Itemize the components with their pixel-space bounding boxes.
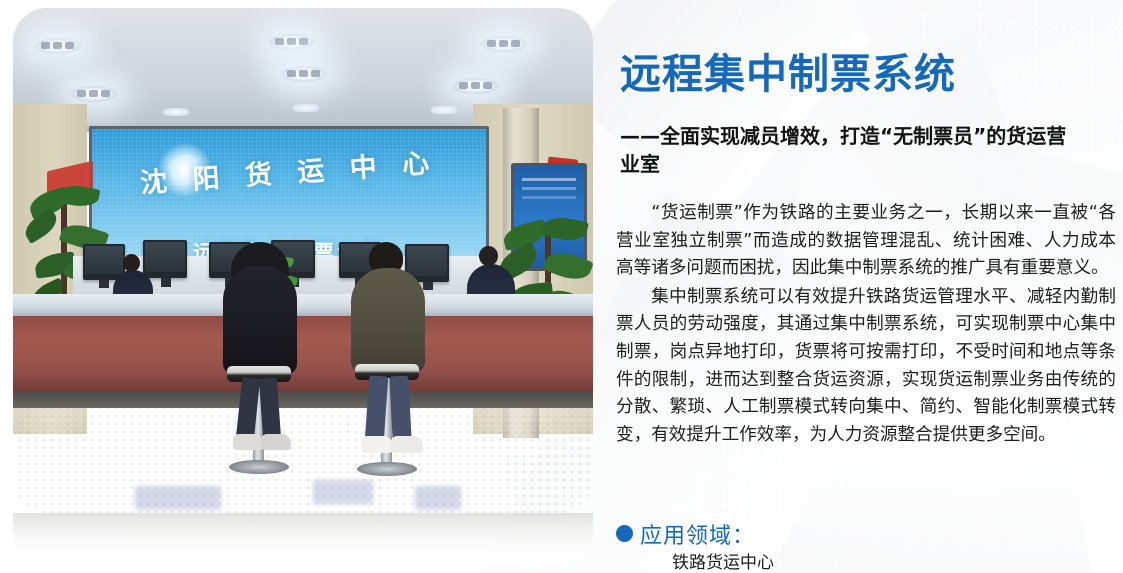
hall-photo: 沈 阳 货 运 中 心 远程集中制票大厅 bbox=[13, 8, 593, 513]
ceiling-light-small-icon bbox=[431, 106, 457, 114]
paragraph-2: 集中制票系统可以有效提升铁路货运管理水平、减轻内勤制票人员的劳动强度，其通过集中… bbox=[616, 284, 1116, 450]
customer-seated-left bbox=[209, 244, 319, 474]
application-area-label: 应用领域： bbox=[640, 518, 755, 550]
ceiling-light-icon bbox=[269, 34, 315, 50]
ceiling-light-small-icon bbox=[293, 104, 319, 112]
ceiling-light-small-icon bbox=[163, 108, 189, 116]
ceiling-light-icon bbox=[281, 66, 327, 82]
photo-reflection bbox=[13, 513, 593, 565]
text-content: 远程集中制票系统 ——全面实现减员增效，打造“无制票员”的货运营业室 “货运制票… bbox=[612, 0, 1112, 573]
application-area-value: 铁路货运中心 bbox=[672, 548, 774, 573]
bullet-dot-icon bbox=[616, 525, 633, 542]
slide-root: 沈 阳 货 运 中 心 远程集中制票大厅 bbox=[0, 0, 1123, 573]
floor-light-reflection bbox=[313, 480, 373, 504]
application-area: 应用领域： bbox=[616, 518, 755, 550]
ceiling-light-icon bbox=[71, 86, 117, 102]
hall-photo-image: 沈 阳 货 运 中 心 远程集中制票大厅 bbox=[13, 8, 593, 513]
staff-monitor bbox=[143, 240, 187, 278]
led-title-text: 沈 阳 货 运 中 心 bbox=[91, 137, 487, 203]
ceiling-light-icon bbox=[481, 36, 527, 52]
ceiling-light-icon bbox=[453, 78, 499, 94]
ceiling-light-icon bbox=[35, 38, 81, 54]
floor-light-reflection bbox=[135, 486, 221, 510]
floor-light-reflection bbox=[415, 486, 461, 510]
page-title: 远程集中制票系统 bbox=[620, 40, 956, 100]
paragraph-1: “货运制票”作为铁路的主要业务之一，长期以来一直被“各营业室独立制票”而造成的数… bbox=[616, 200, 1116, 283]
page-subtitle: ——全面实现减员增效，打造“无制票员”的货运营业室 bbox=[620, 122, 1072, 179]
body-text: “货运制票”作为铁路的主要业务之一，长期以来一直被“各营业室独立制票”而造成的数… bbox=[616, 200, 1116, 450]
customer-seated-right bbox=[335, 244, 445, 478]
